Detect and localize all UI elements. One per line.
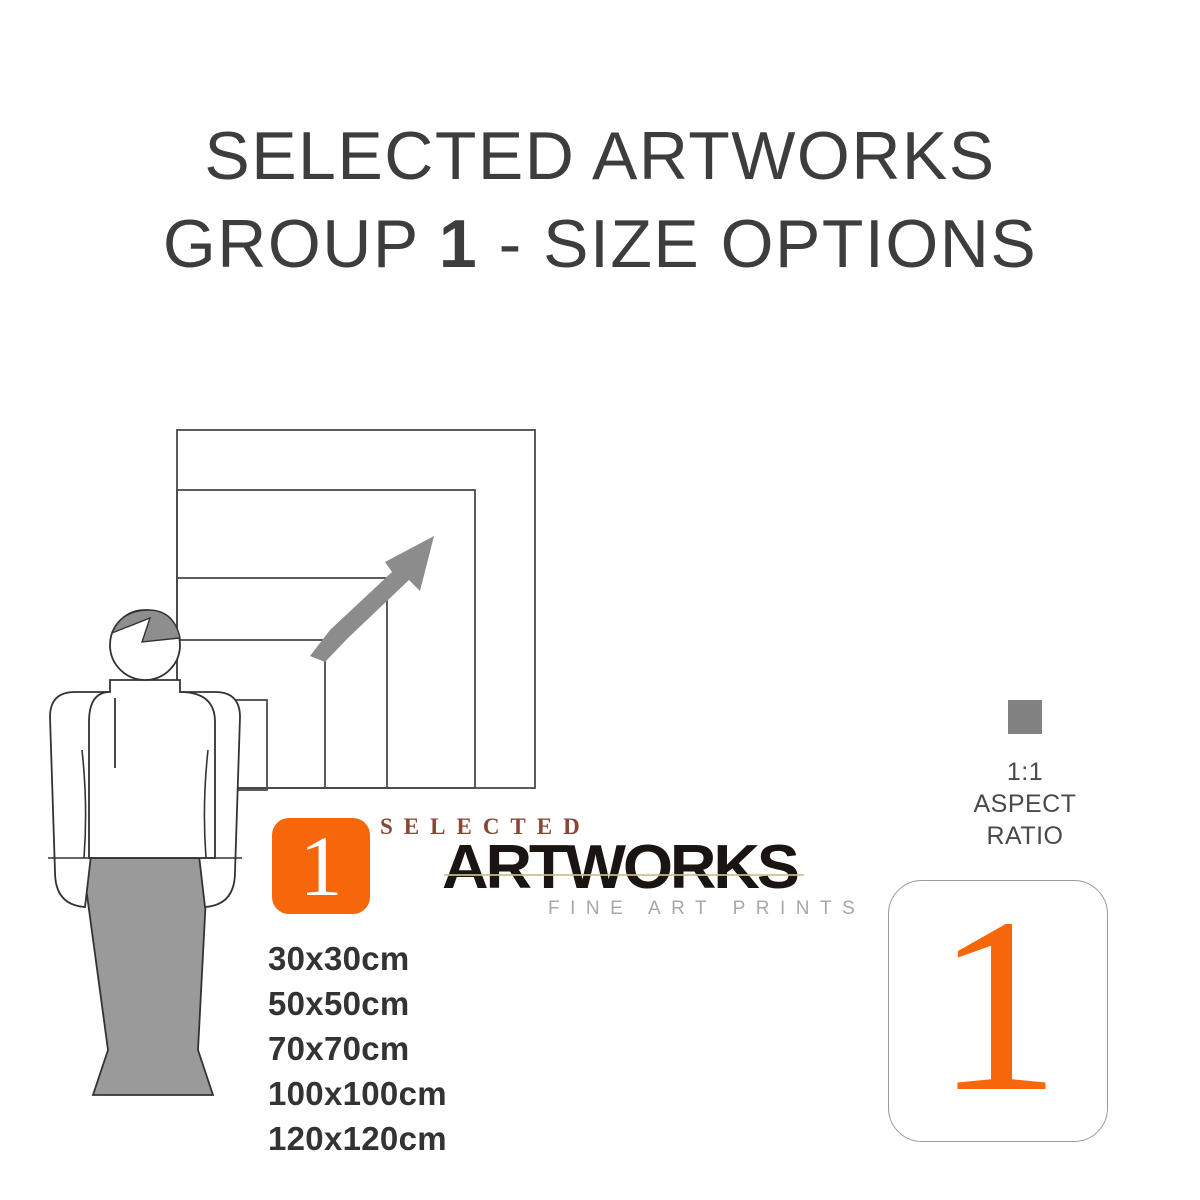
logo-number-badge: 1 — [272, 818, 370, 914]
human-scale-figure — [38, 595, 268, 1165]
size-option-item[interactable]: 30x30cm — [268, 936, 568, 981]
aspect-ratio-label-line-1: ASPECT — [930, 788, 1120, 820]
size-option-item[interactable]: 50x50cm — [268, 981, 568, 1026]
size-option-item[interactable]: 120x120cm — [268, 1116, 568, 1161]
page-title-group-suffix: - SIZE OPTIONS — [478, 206, 1037, 282]
brand-logo: 1 SELECTED ARTWORKS FINE ART PRINTS — [272, 812, 832, 924]
figure-pants — [82, 858, 213, 1095]
page-title-group-number: 1 — [439, 206, 478, 282]
page-title-group-prefix: GROUP — [163, 206, 439, 282]
page-title-line-2: GROUP 1 - SIZE OPTIONS — [0, 200, 1200, 288]
figure-shirt — [89, 680, 215, 858]
size-option-item[interactable]: 70x70cm — [268, 1026, 568, 1071]
size-options-list: 30x30cm 50x50cm 70x70cm 100x100cm 120x12… — [268, 936, 568, 1161]
size-option-item[interactable]: 100x100cm — [268, 1071, 568, 1116]
aspect-ratio-value: 1:1 — [930, 756, 1120, 788]
group-number-value: 1 — [889, 881, 1107, 1131]
group-number-card: 1 — [888, 880, 1108, 1142]
logo-tagline: FINE ART PRINTS — [548, 898, 865, 920]
aspect-ratio-swatch-icon — [1008, 700, 1042, 734]
page-title-line-1: SELECTED ARTWORKS — [0, 112, 1200, 200]
page-title: SELECTED ARTWORKS GROUP 1 - SIZE OPTIONS — [0, 112, 1200, 288]
aspect-ratio-panel: 1:1 ASPECT RATIO — [930, 700, 1120, 852]
growth-arrow-icon — [310, 536, 434, 662]
aspect-ratio-label-line-2: RATIO — [930, 820, 1120, 852]
logo-strike-decoration — [444, 874, 804, 876]
logo-word-artworks: ARTWORKS — [442, 832, 797, 903]
logo-wordmark: SELECTED ARTWORKS FINE ART PRINTS — [380, 812, 832, 924]
